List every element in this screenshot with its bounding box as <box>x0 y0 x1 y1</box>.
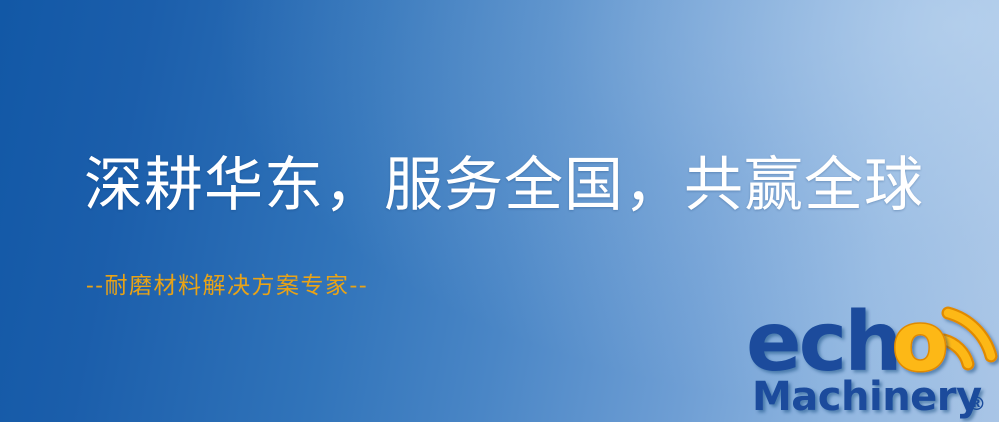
banner-headline: 深耕华东，服务全国，共赢全球 <box>84 154 924 217</box>
hero-banner: 深耕华东，服务全国，共赢全球 --耐磨材料解决方案专家-- ech o Mach… <box>0 0 999 422</box>
logo-text-machinery: Machinery <box>752 374 982 420</box>
company-logo[interactable]: ech o Machinery ® <box>748 296 999 422</box>
registered-trademark-icon: ® <box>967 393 986 415</box>
echo-signal-arcs <box>944 313 991 364</box>
banner-subheadline: --耐磨材料解决方案专家-- <box>86 266 368 300</box>
